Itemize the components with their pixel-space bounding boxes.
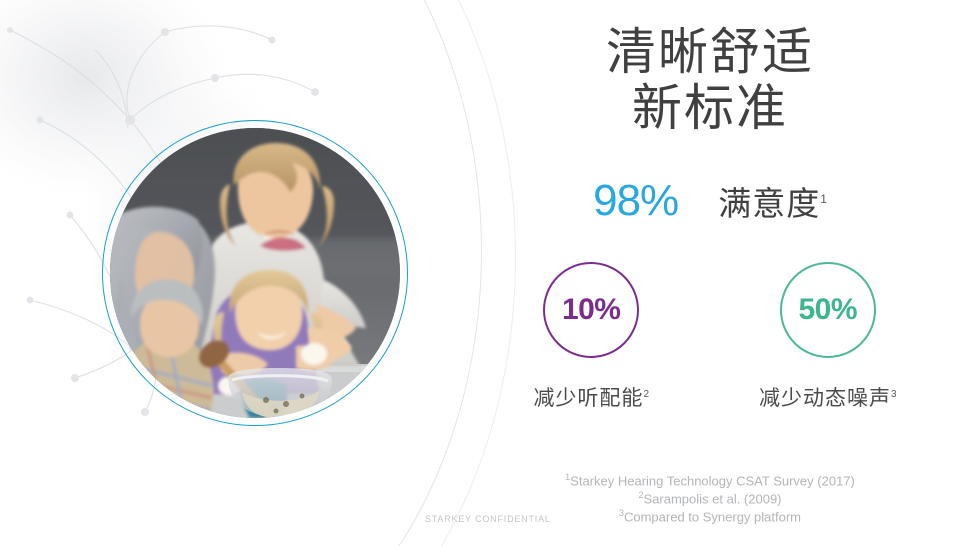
primary-stat-label-text: 满意度 bbox=[718, 185, 820, 222]
confidentiality-notice: STARKEY CONFIDENTIAL bbox=[425, 514, 551, 524]
footnote-text-2: Sarampolis et al. (2009) bbox=[644, 491, 782, 506]
page-title: 清晰舒适 新标准 bbox=[500, 24, 920, 136]
stat-superscript-listening-effort: 2 bbox=[643, 389, 649, 400]
stat-ring-value-dynamic-noise: 50% bbox=[799, 293, 858, 327]
footnote-text-1: Starkey Hearing Technology CSAT Survey (… bbox=[570, 473, 855, 488]
footnote-1: 1Starkey Hearing Technology CSAT Survey … bbox=[500, 472, 920, 490]
page-title-line-2: 新标准 bbox=[500, 80, 920, 136]
stat-ring-value-listening-effort: 10% bbox=[562, 293, 621, 327]
primary-stat-superscript: 1 bbox=[820, 192, 827, 206]
photo-circle-ring bbox=[102, 120, 408, 426]
stat-card-listening-effort: 10% 减少听配能2 bbox=[533, 262, 649, 412]
primary-stat-value: 98% bbox=[593, 176, 678, 226]
footnotes: 1Starkey Hearing Technology CSAT Survey … bbox=[500, 472, 920, 526]
photo-container bbox=[102, 120, 408, 426]
stat-circles-group: 10% 减少听配能2 50% 减少动态噪声3 bbox=[500, 262, 930, 412]
stat-superscript-dynamic-noise: 3 bbox=[891, 389, 897, 400]
content-column: 清晰舒适 新标准 98% 满意度1 10% 减少听配能2 50% 减少动态噪声3 bbox=[500, 0, 972, 546]
stat-caption-text-dynamic-noise: 减少动态噪声 bbox=[759, 387, 891, 410]
stat-ring-dynamic-noise: 50% bbox=[780, 262, 876, 358]
footnote-3: 3Compared to Synergy platform bbox=[500, 508, 920, 526]
stat-caption-dynamic-noise: 减少动态噪声3 bbox=[759, 382, 897, 412]
footnote-text-3: Compared to Synergy platform bbox=[624, 509, 801, 524]
primary-stat-label: 满意度1 bbox=[718, 177, 827, 225]
footnote-2: 2Sarampolis et al. (2009) bbox=[500, 490, 920, 508]
primary-stat: 98% 满意度1 bbox=[500, 176, 920, 226]
stat-ring-listening-effort: 10% bbox=[543, 262, 639, 358]
slide-canvas: 清晰舒适 新标准 98% 满意度1 10% 减少听配能2 50% 减少动态噪声3 bbox=[0, 0, 972, 546]
stat-caption-listening-effort: 减少听配能2 bbox=[533, 382, 649, 412]
stat-caption-text-listening-effort: 减少听配能 bbox=[533, 387, 643, 410]
page-title-line-1: 清晰舒适 bbox=[500, 24, 920, 80]
stat-card-dynamic-noise: 50% 减少动态噪声3 bbox=[759, 262, 897, 412]
